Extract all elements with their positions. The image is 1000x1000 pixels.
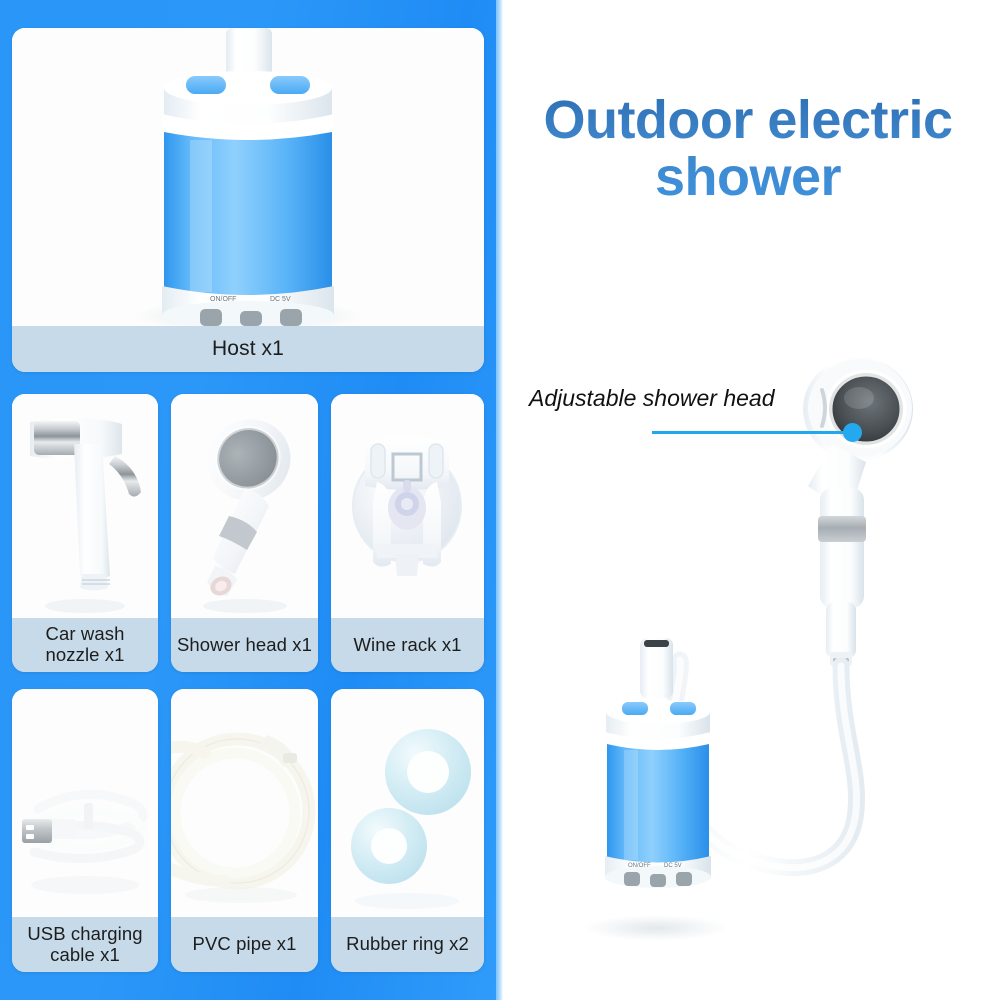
pvc-hose-coil-icon xyxy=(171,689,318,917)
usb-cable-photo xyxy=(12,689,158,917)
hero-assembly-illustration: ON/OFF DC 5V xyxy=(560,340,980,980)
pump-microtext-left: ON/OFF xyxy=(628,863,651,869)
title-line-2: shower xyxy=(498,149,998,206)
electric-shower-pump-host-icon: ON/OFF DC 5V xyxy=(12,28,484,326)
package-cell-wine-rack[interactable]: Wine rack x1 xyxy=(331,394,484,672)
package-cell-usb-cable[interactable]: USB charging cable x1 xyxy=(12,689,158,972)
suction-wall-rack-icon xyxy=(331,394,484,618)
package-cell-label-usb: USB charging cable x1 xyxy=(12,917,158,972)
package-cell-label-ring: Rubber ring x2 xyxy=(331,917,484,972)
package-cell-host[interactable]: ON/OFF DC 5V Host x1 xyxy=(12,28,484,372)
rubber-rings-photo xyxy=(331,689,484,917)
pump-microtext-right: DC 5V xyxy=(664,863,682,869)
label-line-1: Car wash xyxy=(46,623,125,644)
label-line-2: nozzle x1 xyxy=(45,644,124,665)
package-cell-label-host: Host x1 xyxy=(12,326,484,372)
package-cell-label-pvc: PVC pipe x1 xyxy=(171,917,318,972)
package-cell-pvc-pipe[interactable]: PVC pipe x1 xyxy=(171,689,318,972)
rubber-rings-icon xyxy=(331,689,484,917)
pvc-pipe-photo xyxy=(171,689,318,917)
package-cell-label-shower: Shower head x1 xyxy=(171,618,318,672)
product-infographic: ON/OFF DC 5V Host x1 xyxy=(0,0,1000,1000)
package-cell-label-nozzle: Car wash nozzle x1 xyxy=(12,618,158,672)
pump-unit-art: ON/OFF DC 5V xyxy=(584,638,728,941)
host-microtext-left: ON/OFF xyxy=(210,296,236,303)
adjustable-shower-head-art xyxy=(803,357,913,666)
package-cell-car-wash-nozzle[interactable]: Car wash nozzle x1 xyxy=(12,394,158,672)
package-cell-rubber-ring[interactable]: Rubber ring x2 xyxy=(331,689,484,972)
label-line-2: cable x1 xyxy=(50,944,120,965)
callout-leader-line xyxy=(652,431,852,434)
host-microtext-right: DC 5V xyxy=(270,296,291,303)
package-cell-shower-head[interactable]: Shower head x1 xyxy=(171,394,318,672)
car-wash-nozzle-icon xyxy=(12,394,158,618)
host-photo: ON/OFF DC 5V xyxy=(12,28,484,326)
callout-label: Adjustable shower head xyxy=(529,385,775,412)
car-wash-nozzle-photo xyxy=(12,394,158,618)
shower-head-icon xyxy=(171,394,318,618)
wine-rack-photo xyxy=(331,394,484,618)
label-line-1: USB charging xyxy=(27,923,142,944)
title-line-1: Outdoor electric xyxy=(498,92,998,149)
callout-dot-marker xyxy=(843,423,862,442)
page-title: Outdoor electric shower xyxy=(498,92,998,206)
usb-charging-cable-icon xyxy=(12,689,158,917)
shower-head-photo xyxy=(171,394,318,618)
package-cell-label-rack: Wine rack x1 xyxy=(331,618,484,672)
